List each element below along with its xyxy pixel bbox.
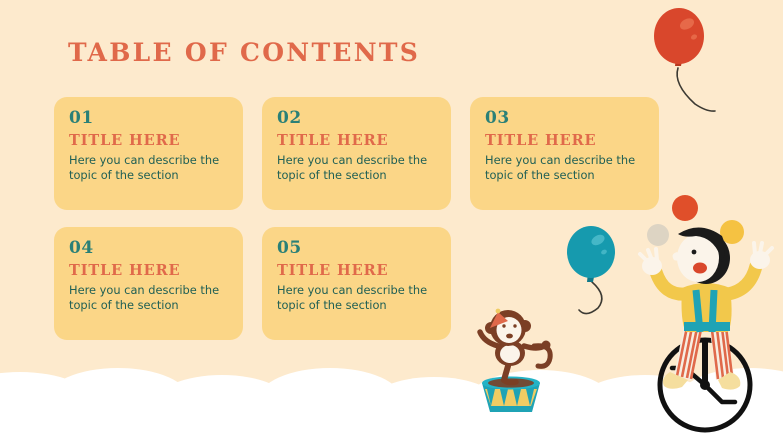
card-description: Here you can describe the topic of the s…: [485, 153, 644, 183]
juggling-ball-red: [672, 195, 698, 221]
card-title: TITLE HERE: [69, 262, 228, 281]
card-title: TITLE HERE: [277, 132, 436, 151]
card-number: 02: [277, 110, 436, 128]
toc-card-03[interactable]: 03 TITLE HERE Here you can describe the …: [470, 97, 659, 210]
cloud-band: [0, 360, 783, 440]
card-description: Here you can describe the topic of the s…: [69, 283, 228, 313]
card-title: TITLE HERE: [69, 132, 228, 151]
card-row-1: 01 TITLE HERE Here you can describe the …: [54, 97, 660, 210]
red-balloon-icon: [645, 8, 760, 113]
card-title: TITLE HERE: [485, 132, 644, 151]
toc-card-01[interactable]: 01 TITLE HERE Here you can describe the …: [54, 97, 243, 210]
juggling-ball-yellow: [720, 220, 744, 244]
card-number: 05: [277, 240, 436, 258]
toc-card-02[interactable]: 02 TITLE HERE Here you can describe the …: [262, 97, 451, 210]
card-description: Here you can describe the topic of the s…: [69, 153, 228, 183]
card-number: 03: [485, 110, 644, 128]
table-of-contents-grid: 01 TITLE HERE Here you can describe the …: [54, 97, 660, 357]
card-row-2: 04 TITLE HERE Here you can describe the …: [54, 227, 660, 340]
card-description: Here you can describe the topic of the s…: [277, 153, 436, 183]
page-title: TABLE OF CONTENTS: [68, 38, 420, 67]
toc-card-04[interactable]: 04 TITLE HERE Here you can describe the …: [54, 227, 243, 340]
slide-canvas: TABLE OF CONTENTS 01 TITLE HERE Here you…: [0, 0, 783, 440]
card-number: 04: [69, 240, 228, 258]
card-title: TITLE HERE: [277, 262, 436, 281]
card-number: 01: [69, 110, 228, 128]
card-description: Here you can describe the topic of the s…: [277, 283, 436, 313]
toc-card-05[interactable]: 05 TITLE HERE Here you can describe the …: [262, 227, 451, 340]
